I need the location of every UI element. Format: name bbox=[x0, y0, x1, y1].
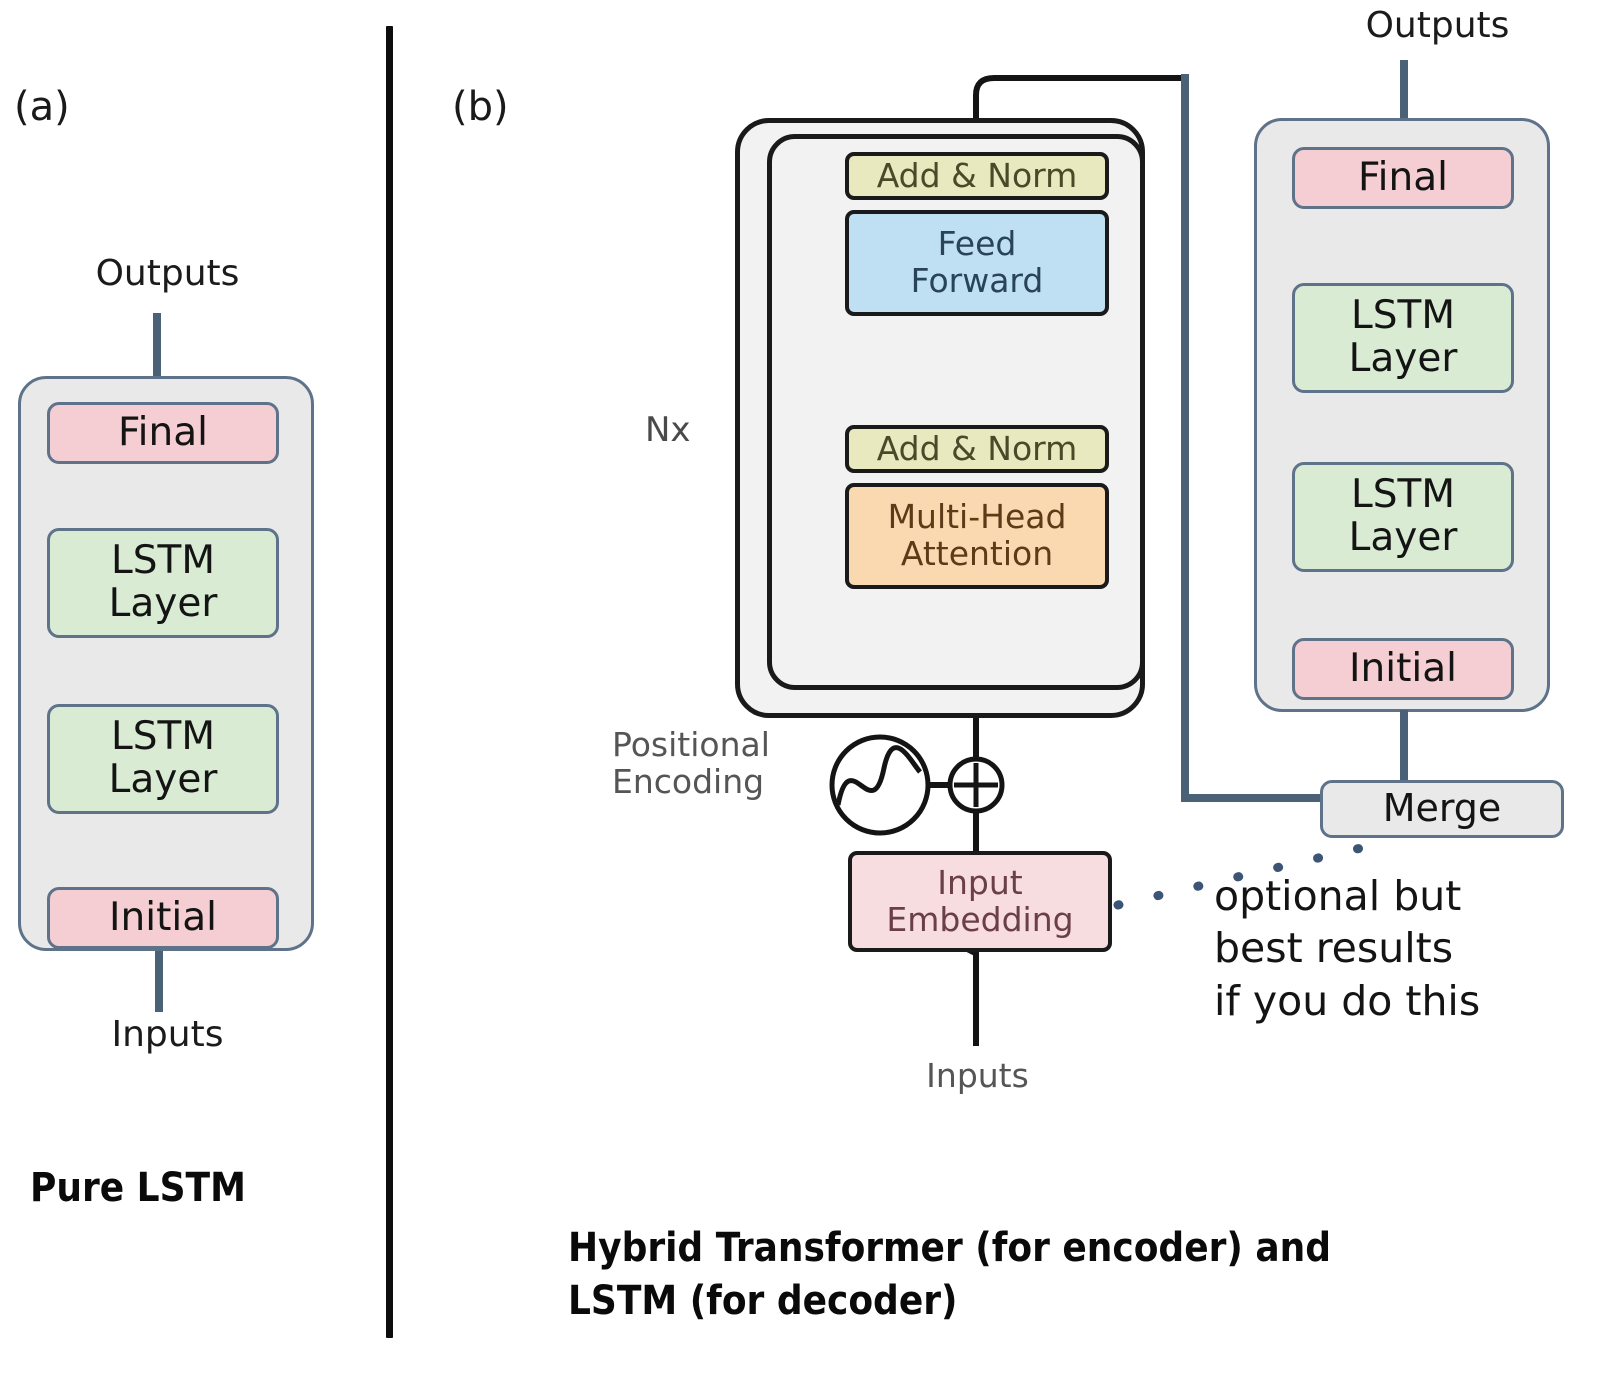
panel-a-block-final[interactable]: Final bbox=[47, 402, 279, 464]
decoder-outputs-label: Outputs bbox=[1330, 5, 1545, 46]
encoder-feed-forward[interactable]: Feed Forward bbox=[845, 210, 1109, 316]
positional-encoding-label: Positional Encoding bbox=[612, 727, 770, 801]
panel-a-outputs-label: Outputs bbox=[60, 253, 275, 294]
panel-a-letter: (a) bbox=[14, 84, 70, 130]
encoder-output-horizontal-line bbox=[1181, 794, 1326, 802]
panel-a-inputs-label: Inputs bbox=[60, 1014, 275, 1055]
decoder-merge-connector bbox=[1400, 710, 1408, 782]
decoder-block-final[interactable]: Final bbox=[1292, 147, 1514, 209]
decoder-output-connector bbox=[1400, 60, 1408, 122]
panel-divider bbox=[386, 26, 393, 1338]
panel-a-caption: Pure LSTM bbox=[30, 1162, 360, 1215]
decoder-block-lstm-2[interactable]: LSTM Layer bbox=[1292, 462, 1514, 572]
merge-annotation-text: optional but best results if you do this bbox=[1214, 870, 1594, 1027]
decoder-block-initial[interactable]: Initial bbox=[1292, 638, 1514, 700]
panel-a-input-connector bbox=[155, 951, 163, 1012]
panel-a-block-initial[interactable]: Initial bbox=[47, 887, 279, 949]
panel-a-block-lstm-2[interactable]: LSTM Layer bbox=[47, 704, 279, 814]
add-operator-icon bbox=[950, 759, 1002, 811]
encoder-output-vertical-line bbox=[1181, 74, 1189, 802]
sine-wave-icon bbox=[832, 737, 928, 833]
panel-a-output-connector bbox=[153, 313, 161, 381]
panel-b-letter: (b) bbox=[452, 84, 509, 130]
encoder-add-norm-2[interactable]: Add & Norm bbox=[845, 152, 1109, 200]
encoder-input-embedding[interactable]: Input Embedding bbox=[848, 851, 1112, 952]
panel-a-block-lstm-1[interactable]: LSTM Layer bbox=[47, 528, 279, 638]
panel-b-caption: Hybrid Transformer (for encoder) and LST… bbox=[568, 1222, 1508, 1328]
merge-block[interactable]: Merge bbox=[1320, 780, 1564, 838]
decoder-block-lstm-1[interactable]: LSTM Layer bbox=[1292, 283, 1514, 393]
encoder-repeat-label: Nx bbox=[645, 410, 691, 450]
encoder-multi-head-attention[interactable]: Multi-Head Attention bbox=[845, 483, 1109, 589]
encoder-add-norm-1[interactable]: Add & Norm bbox=[845, 425, 1109, 473]
encoder-inputs-label: Inputs bbox=[905, 1058, 1050, 1095]
